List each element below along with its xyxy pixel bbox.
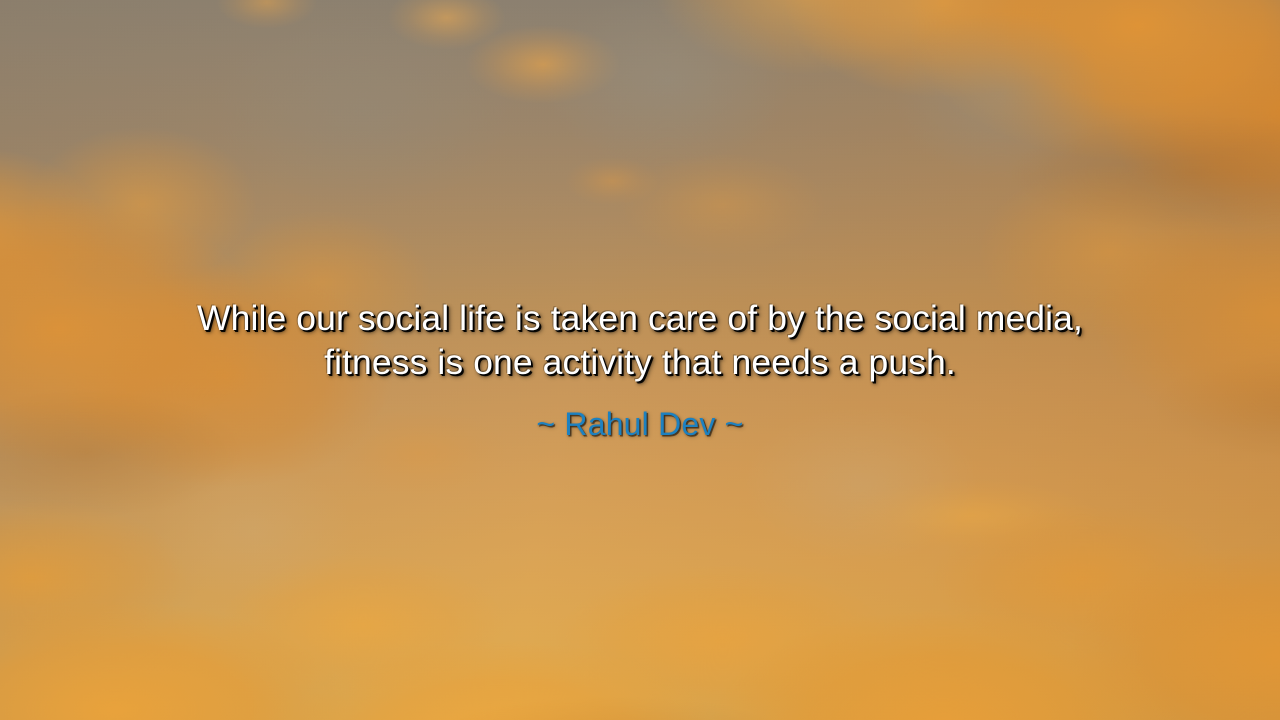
quote-text: While our social life is taken care of b… [125, 296, 1155, 384]
wallpaper-canvas: While our social life is taken care of b… [0, 0, 1280, 720]
quote-author: ~ Rahul Dev ~ [536, 405, 743, 443]
quote-block: While our social life is taken care of b… [0, 0, 1280, 720]
